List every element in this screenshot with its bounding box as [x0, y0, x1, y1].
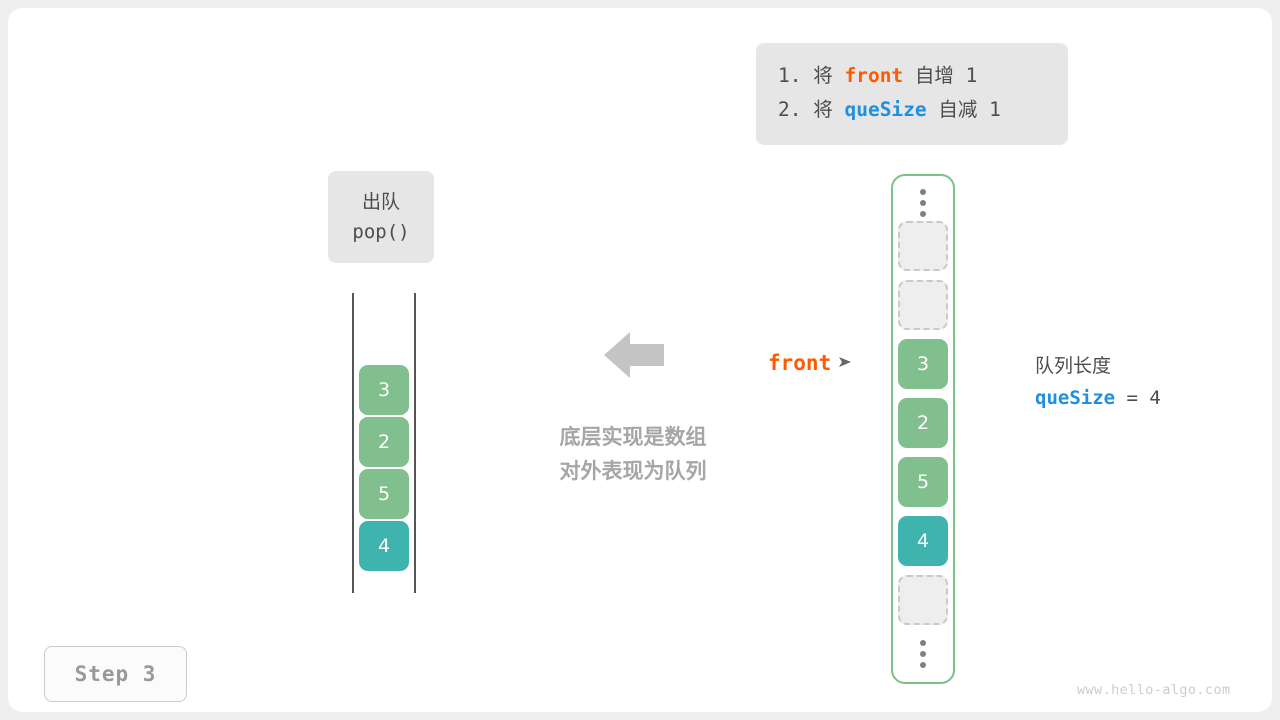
- queue-size-expression: queSize = 4: [1035, 381, 1161, 415]
- array-slot-filled: 4: [898, 516, 948, 566]
- left-arrow-icon: [604, 330, 664, 380]
- operation-note-line-2: 2. 将 queSize 自减 1: [778, 93, 1046, 127]
- queue-cell: 3: [359, 365, 409, 415]
- center-caption-line-1: 底层实现是数组: [508, 420, 758, 454]
- queue-rail-left: [352, 293, 354, 593]
- front-arrow-icon: [838, 354, 852, 373]
- step-badge: Step 3: [44, 646, 187, 702]
- ellipsis-bottom-icon: [916, 640, 930, 668]
- pop-label-title: 出队: [362, 187, 400, 217]
- pop-operation-label: 出队 pop(): [328, 171, 434, 263]
- queue-size-equals: =: [1115, 387, 1149, 409]
- front-pointer: front: [768, 351, 852, 375]
- queue-cell: 5: [359, 469, 409, 519]
- array-slot-empty: [898, 221, 948, 271]
- operation-note: 1. 将 front 自增 1 2. 将 queSize 自减 1: [756, 43, 1068, 145]
- op-line1-suffix: 自增 1: [903, 64, 977, 87]
- center-caption-line-2: 对外表现为队列: [508, 454, 758, 488]
- queue-size-value: 4: [1149, 387, 1160, 409]
- array-slot-filled: 2: [898, 398, 948, 448]
- center-caption: 底层实现是数组 对外表现为队列: [508, 420, 758, 488]
- op-line2-suffix: 自减 1: [927, 98, 1001, 121]
- front-pointer-label: front: [768, 351, 831, 375]
- op-line2-prefix: 2. 将: [778, 98, 844, 121]
- array-slot-filled: 3: [898, 339, 948, 389]
- array-cell-list: 3254: [898, 221, 948, 634]
- op-line1-keyword: front: [844, 64, 903, 87]
- array-slot-empty: [898, 575, 948, 625]
- diagram-canvas: 1. 将 front 自增 1 2. 将 queSize 自减 1 出队 pop…: [8, 8, 1272, 712]
- array-slot-filled: 5: [898, 457, 948, 507]
- array-slot-empty: [898, 280, 948, 330]
- operation-note-line-1: 1. 将 front 自增 1: [778, 59, 1046, 93]
- queue-size-annotation: 队列长度 queSize = 4: [1035, 351, 1161, 415]
- op-line2-keyword: queSize: [844, 98, 926, 121]
- queue-cell-list: 3254: [359, 365, 409, 573]
- watermark: www.hello-algo.com: [1077, 682, 1231, 698]
- ellipsis-top-icon: [916, 189, 930, 217]
- pop-label-method: pop(): [352, 217, 409, 247]
- queue-cell: 2: [359, 417, 409, 467]
- queue-size-varname: queSize: [1035, 387, 1115, 409]
- queue-rail-right: [414, 293, 416, 593]
- queue-cell: 4: [359, 521, 409, 571]
- op-line1-prefix: 1. 将: [778, 64, 844, 87]
- queue-size-title: 队列长度: [1035, 351, 1161, 381]
- step-badge-label: Step 3: [75, 662, 157, 686]
